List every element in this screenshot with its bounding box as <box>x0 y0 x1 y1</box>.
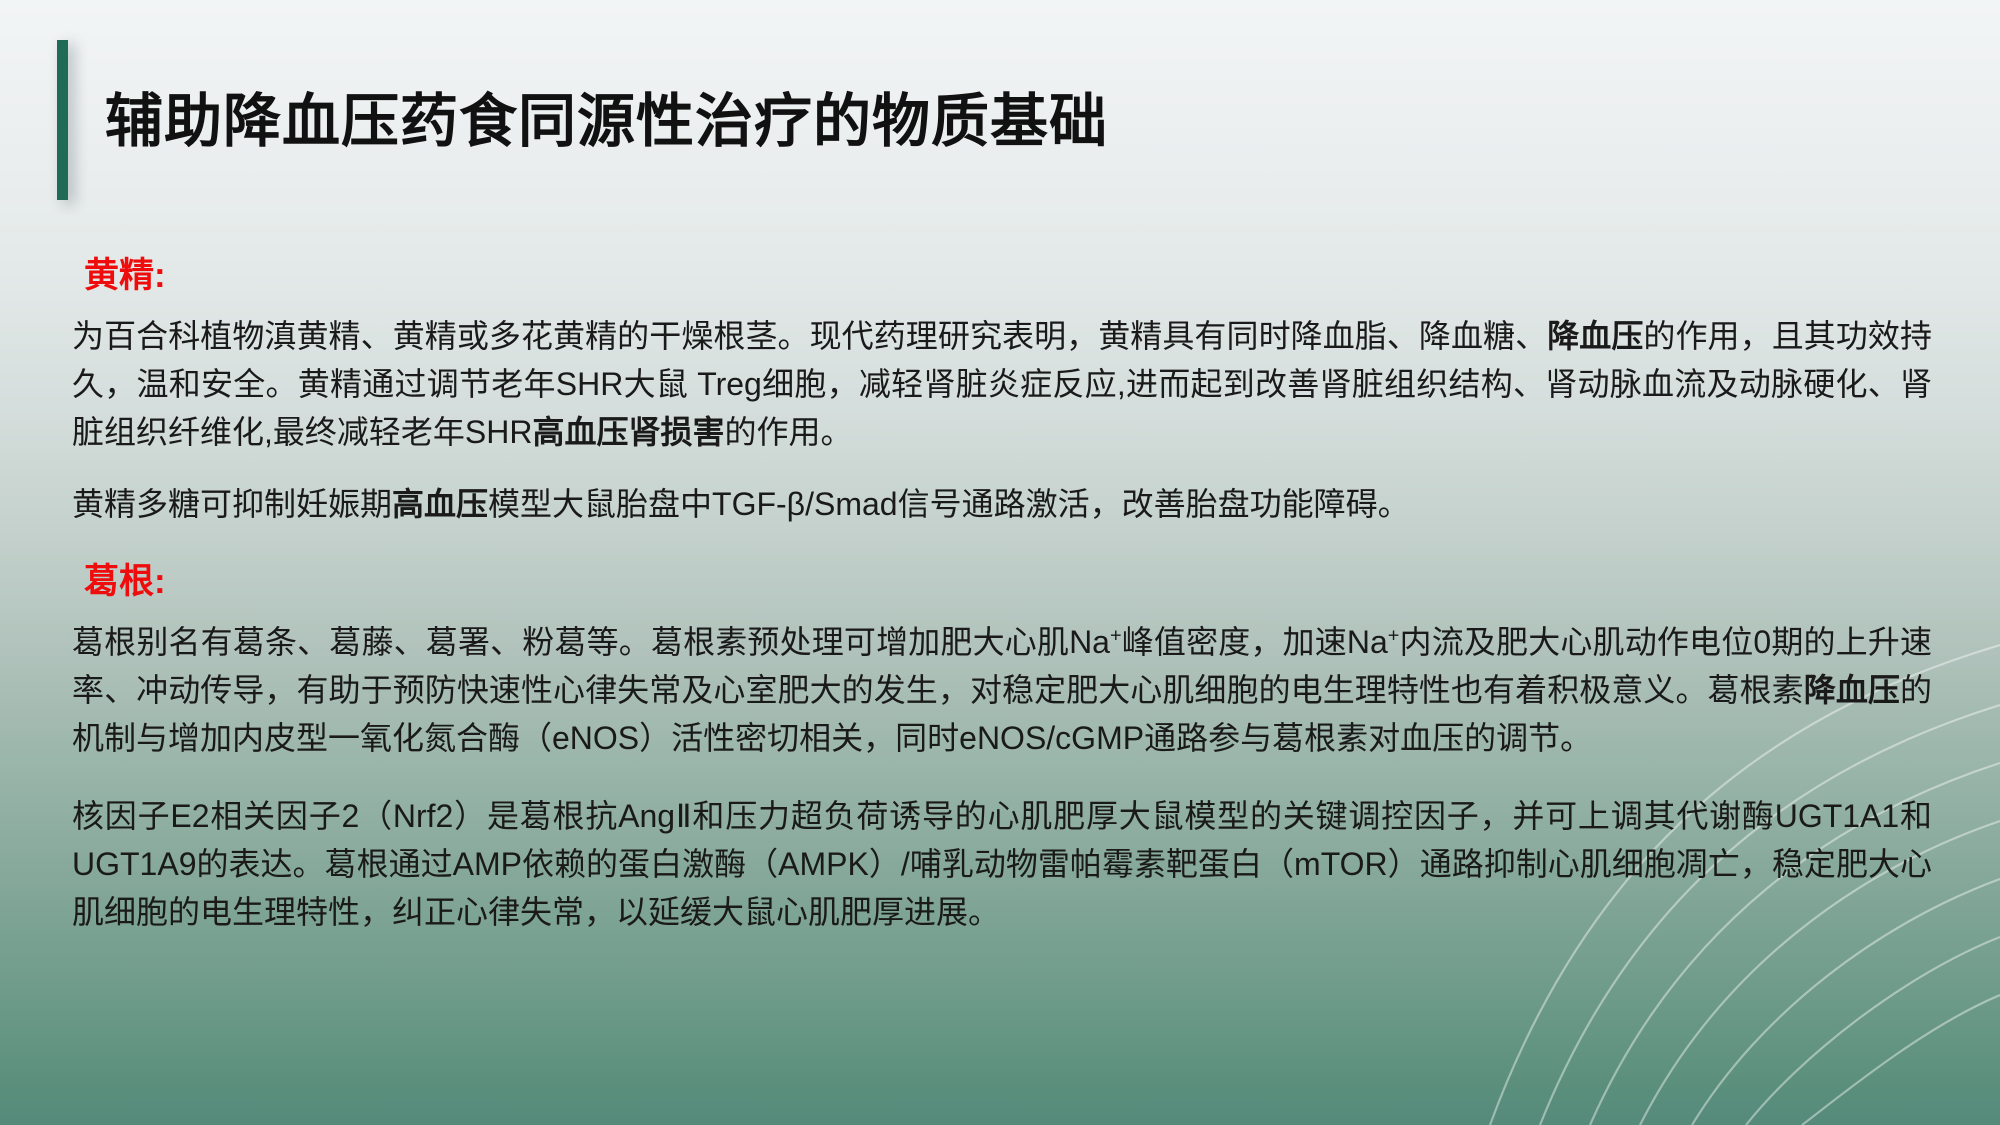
section-heading-gegen: 葛根: <box>84 564 1932 599</box>
title-accent-bar <box>57 40 68 200</box>
section-heading-huangjing: 黄精: <box>84 258 1932 293</box>
paragraph-gegen-1: 葛根别名有葛条、葛藤、葛署、粉葛等。葛根素预处理可增加肥大心肌Na+峰值密度，加… <box>72 618 1932 762</box>
emphasis-text: 高血压肾损害 <box>532 414 724 450</box>
body-text: 峰值密度，加速Na <box>1122 624 1388 660</box>
emphasis-text: 高血压 <box>392 486 488 522</box>
body-text: 核因子E2相关因子2（Nrf2）是葛根抗AngⅡ和压力超负荷诱导的心肌肥厚大鼠模… <box>72 798 1932 930</box>
page-title: 辅助降血压药食同源性治疗的物质基础 <box>105 74 1108 158</box>
emphasis-text: 降血压 <box>1547 318 1643 354</box>
superscript-text: + <box>1388 624 1400 646</box>
body-text: 模型大鼠胎盘中TGF-β/Smad信号通路激活，改善胎盘功能障碍。 <box>488 486 1410 522</box>
body-text: 葛根别名有葛条、葛藤、葛署、粉葛等。葛根素预处理可增加肥大心肌Na <box>72 624 1110 660</box>
body-text: 为百合科植物滇黄精、黄精或多花黄精的干燥根茎。现代药理研究表明，黄精具有同时降血… <box>72 318 1547 354</box>
body-text: 的作用。 <box>724 414 852 450</box>
paragraph-gegen-2: 核因子E2相关因子2（Nrf2）是葛根抗AngⅡ和压力超负荷诱导的心肌肥厚大鼠模… <box>72 792 1932 936</box>
body-text: 黄精多糖可抑制妊娠期 <box>72 486 392 522</box>
superscript-text: + <box>1110 624 1122 646</box>
slide: 辅助降血压药食同源性治疗的物质基础 黄精: 为百合科植物滇黄精、黄精或多花黄精的… <box>0 0 2000 1125</box>
slide-content: 黄精: 为百合科植物滇黄精、黄精或多花黄精的干燥根茎。现代药理研究表明，黄精具有… <box>72 258 1932 936</box>
paragraph-huangjing-2: 黄精多糖可抑制妊娠期高血压模型大鼠胎盘中TGF-β/Smad信号通路激活，改善胎… <box>72 480 1932 528</box>
paragraph-huangjing-1: 为百合科植物滇黄精、黄精或多花黄精的干燥根茎。现代药理研究表明，黄精具有同时降血… <box>72 312 1932 456</box>
emphasis-text: 降血压 <box>1804 672 1900 708</box>
